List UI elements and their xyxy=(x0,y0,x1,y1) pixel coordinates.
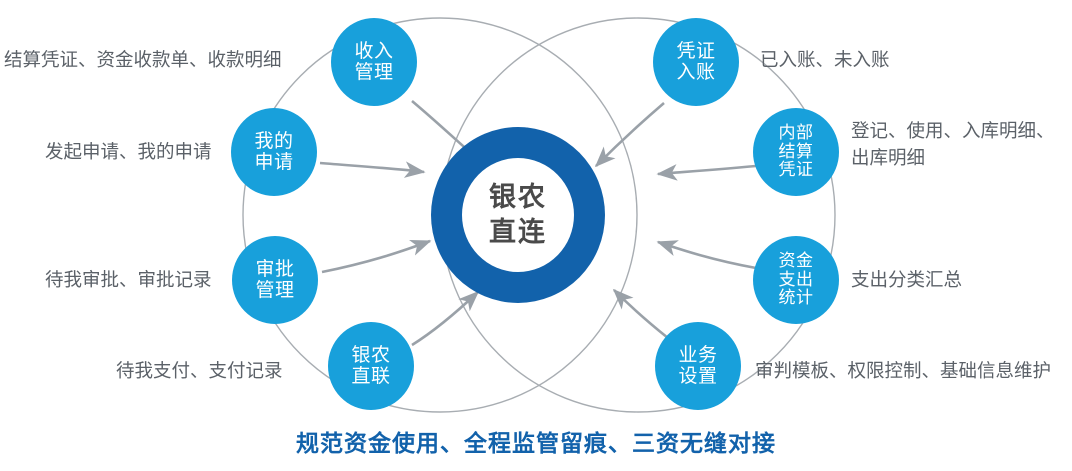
caption-bank-farm-direct: 待我支付、支付记录 xyxy=(116,358,283,385)
node-label-line: 内部 xyxy=(779,124,814,143)
node-my-application[interactable]: 我的 申请 xyxy=(231,108,317,196)
node-label-line: 审批 xyxy=(255,259,294,280)
arrow-business-settings xyxy=(614,290,668,338)
caption-business-settings: 审判模板、权限控制、基础信息维护 xyxy=(755,358,1051,385)
caption-internal-settlement-voucher: 登记、使用、入库明细、出库明细 xyxy=(851,118,1066,172)
arrow-internal-settlement-voucher xyxy=(658,166,756,174)
center-label: 银农 直连 xyxy=(462,158,574,272)
node-label-line: 资金 xyxy=(779,252,814,271)
node-business-settings[interactable]: 业务 设置 xyxy=(655,322,741,410)
node-label-line: 管理 xyxy=(255,280,294,301)
center-label-line: 直连 xyxy=(489,215,547,250)
node-label-line: 统计 xyxy=(779,289,814,308)
node-label-line: 入账 xyxy=(676,62,715,83)
node-voucher-entry[interactable]: 凭证 入账 xyxy=(653,18,739,106)
center-ring: 银农 直连 xyxy=(431,127,605,303)
node-label-line: 银农 xyxy=(351,345,390,366)
node-label-line: 我的 xyxy=(254,131,293,152)
slogan-text: 规范资金使用、全程监管留痕、三资无缝对接 xyxy=(0,424,1072,458)
arrow-approval-management xyxy=(322,241,430,272)
node-label-line: 管理 xyxy=(354,62,393,83)
caption-income-management: 结算凭证、资金收款单、收款明细 xyxy=(4,47,282,74)
arrow-bank-farm-direct xyxy=(412,292,478,345)
caption-approval-management: 待我审批、审批记录 xyxy=(45,267,212,294)
node-bank-farm-direct[interactable]: 银农 直联 xyxy=(328,322,414,410)
node-label-line: 业务 xyxy=(678,345,717,366)
node-approval-management[interactable]: 审批 管理 xyxy=(232,236,318,324)
node-internal-settlement-voucher[interactable]: 内部 结算 凭证 xyxy=(753,108,839,196)
caption-voucher-entry: 已入账、未入账 xyxy=(760,47,890,74)
arrow-fund-expenditure-statistics xyxy=(658,242,756,268)
node-income-management[interactable]: 收入 管理 xyxy=(331,18,417,106)
node-label-line: 结算 xyxy=(779,143,814,162)
node-label-line: 直联 xyxy=(351,366,390,387)
node-fund-expenditure-statistics[interactable]: 资金 支出 统计 xyxy=(753,236,839,324)
caption-fund-expenditure-statistics: 支出分类汇总 xyxy=(851,267,962,294)
arrow-voucher-entry xyxy=(596,103,664,166)
arrow-my-application xyxy=(320,163,424,172)
caption-my-application: 发起申请、我的申请 xyxy=(45,139,212,166)
node-label-line: 申请 xyxy=(254,152,293,173)
node-label-line: 收入 xyxy=(354,41,393,62)
center-label-line: 银农 xyxy=(489,180,547,215)
node-label-line: 设置 xyxy=(678,366,717,387)
node-label-line: 支出 xyxy=(779,271,814,290)
node-label-line: 凭证 xyxy=(676,41,715,62)
node-label-line: 凭证 xyxy=(779,161,814,180)
diagram-canvas: 收入 管理 我的 申请 审批 管理 银农 直联 凭证 入账 内部 结算 凭证 资… xyxy=(0,0,1072,471)
